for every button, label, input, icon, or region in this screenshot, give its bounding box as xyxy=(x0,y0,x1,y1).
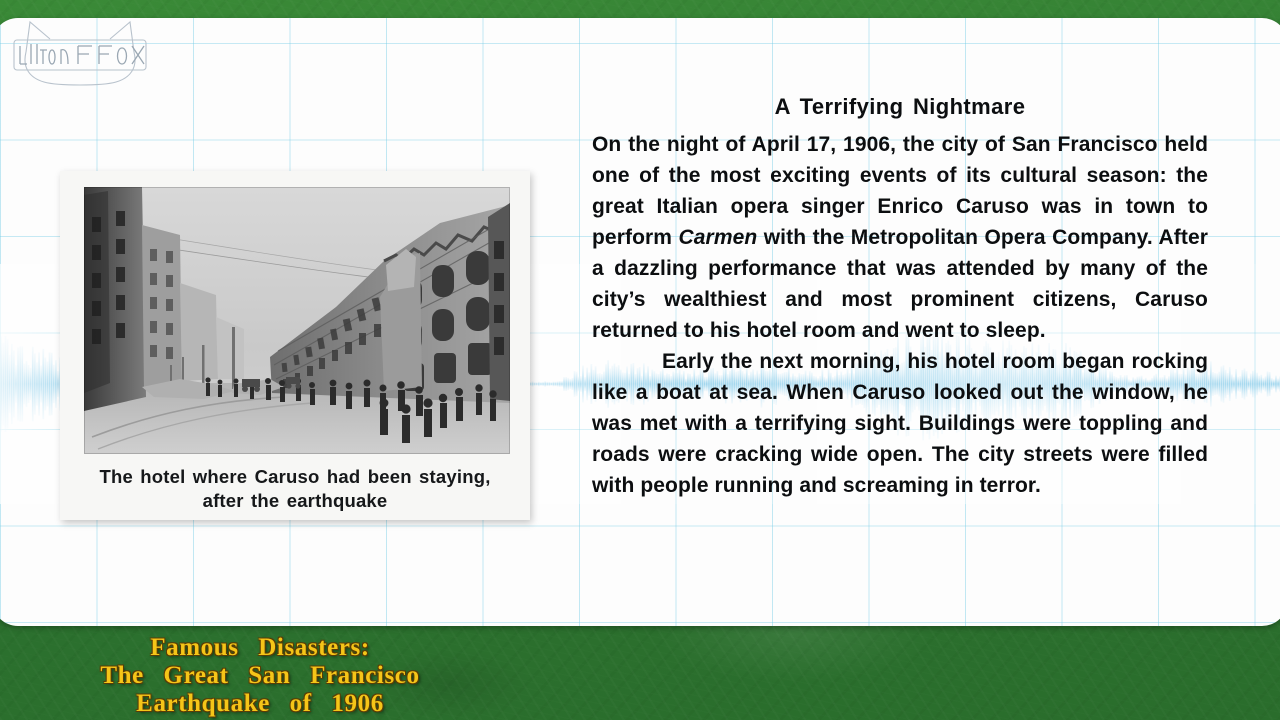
lesson-title: Famous Disasters: The Great San Francisc… xyxy=(0,634,520,718)
earthquake-photo xyxy=(84,187,510,454)
littlefox-logo xyxy=(0,18,164,90)
lesson-title-line-2: The Great San Francisco xyxy=(0,662,520,690)
italic-title-run: Carmen xyxy=(679,226,758,249)
para-1: On the night of April 17, 1906, the city… xyxy=(592,129,1208,346)
content-stage: The hotel where Caruso had been staying,… xyxy=(0,18,1280,626)
photo-caption: The hotel where Caruso had been staying,… xyxy=(78,465,512,513)
text-run: Early the next morning, his hotel room b… xyxy=(592,350,1208,497)
lesson-title-line-1: Famous Disasters: xyxy=(0,634,520,662)
photo-card: The hotel where Caruso had been staying,… xyxy=(60,171,530,520)
lesson-player-root: The hotel where Caruso had been staying,… xyxy=(0,0,1280,720)
lesson-title-line-3: Earthquake of 1906 xyxy=(0,690,520,718)
reading-passage: A Terrifying Nightmare On the night of A… xyxy=(592,94,1208,501)
passage-body: On the night of April 17, 1906, the city… xyxy=(592,129,1208,501)
passage-title: A Terrifying Nightmare xyxy=(592,94,1208,120)
para-2: Early the next morning, his hotel room b… xyxy=(592,346,1208,501)
